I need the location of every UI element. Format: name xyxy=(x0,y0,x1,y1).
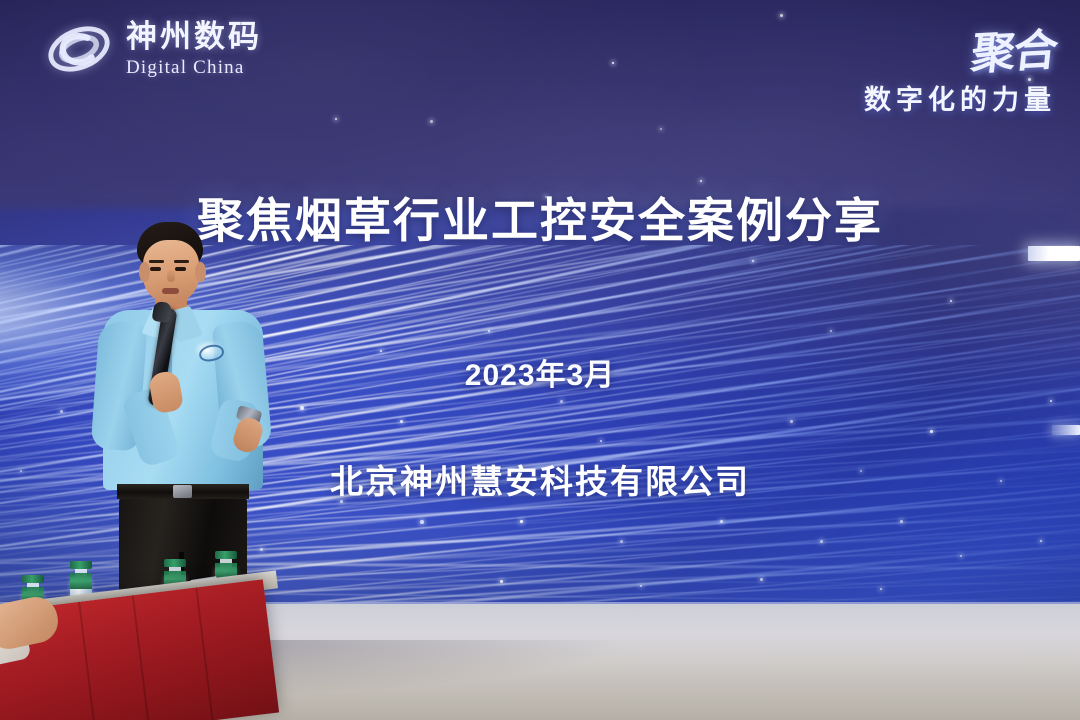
presenter-ear-right xyxy=(195,262,206,282)
slide-tagline: 聚合 数字化的力量 xyxy=(864,16,1056,117)
microphone-capsule xyxy=(152,301,173,324)
company-emblem-icon xyxy=(195,340,225,362)
presenter xyxy=(95,222,285,622)
slide-brand-lockup: 神州数码 Digital China xyxy=(44,14,262,84)
brand-name-cn: 神州数码 xyxy=(126,21,262,52)
bottle-cap xyxy=(70,561,92,569)
brand-text: 神州数码 Digital China xyxy=(126,21,262,77)
brand-name-en: Digital China xyxy=(126,58,262,77)
bottle-cap xyxy=(164,559,186,567)
tablecloth-fold xyxy=(78,602,96,720)
presenter-mouth xyxy=(162,288,179,294)
tablecloth-fold xyxy=(132,595,150,720)
presenter-eye-left xyxy=(150,267,161,271)
bottle-cap xyxy=(22,575,44,583)
digital-china-swirl-icon xyxy=(44,14,114,84)
presenter-nose xyxy=(167,270,175,282)
tagline-subtitle: 数字化的力量 xyxy=(864,78,1056,117)
bottle-label xyxy=(70,573,92,589)
presenter-brow-right xyxy=(174,260,189,263)
tablecloth-fold xyxy=(195,587,213,720)
presenter-belt-buckle xyxy=(173,485,192,498)
tagline-calligraphy: 聚合 xyxy=(968,14,1059,82)
screenshot-root: 神州数码 Digital China 聚合 数字化的力量 聚焦烟草行业工控安全案… xyxy=(0,0,1080,720)
presenter-eye-right xyxy=(175,267,186,271)
stage-light-bar-secondary-icon xyxy=(1052,425,1080,435)
bottle-cap xyxy=(215,551,237,559)
presenter-brow-left xyxy=(149,260,164,263)
presenter-ear-left xyxy=(139,262,150,282)
